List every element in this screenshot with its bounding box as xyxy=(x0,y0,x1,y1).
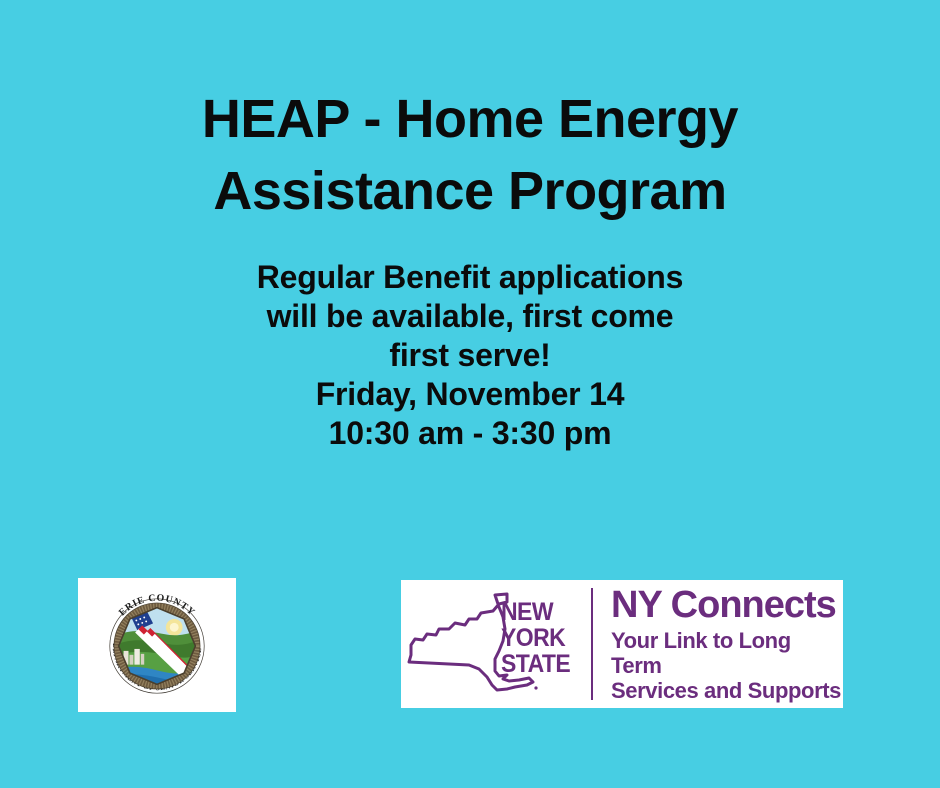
event-date: Friday, November 14 xyxy=(0,375,940,414)
body-line-3: first serve! xyxy=(0,336,940,375)
nys-line-3: STATE xyxy=(501,651,570,677)
ny-connects-wordmark: NY Connects Your Link to Long Term Servi… xyxy=(593,585,843,703)
logo-strip: ERIE COUNTY DEPARTMENT OF SENIOR SERVICE… xyxy=(0,578,940,714)
ny-state-lockup: NEW YORK STATE xyxy=(401,585,591,703)
heap-flyer: HEAP - Home Energy Assistance Program Re… xyxy=(0,0,940,788)
nys-line-2: YORK xyxy=(501,625,570,651)
new-york-state-wordmark: NEW YORK STATE xyxy=(501,599,570,677)
ny-connects-tagline: Your Link to Long Term Services and Supp… xyxy=(611,628,843,703)
ny-connects-logo-card: NEW YORK STATE NY Connects Your Link to … xyxy=(401,580,843,708)
tagline-line-1: Your Link to Long Term xyxy=(611,628,843,678)
event-details: Regular Benefit applications will be ava… xyxy=(0,258,940,453)
ny-connects-title: NY Connects xyxy=(611,585,843,625)
headline-line-2: Assistance Program xyxy=(0,155,940,227)
body-line-2: will be available, first come xyxy=(0,297,940,336)
event-time: 10:30 am - 3:30 pm xyxy=(0,414,940,453)
erie-county-seal-icon: ERIE COUNTY DEPARTMENT OF SENIOR SERVICE… xyxy=(98,586,216,704)
page-title: HEAP - Home Energy Assistance Program xyxy=(0,83,940,227)
nys-line-1: NEW xyxy=(501,599,570,625)
body-line-1: Regular Benefit applications xyxy=(0,258,940,297)
erie-county-logo-card: ERIE COUNTY DEPARTMENT OF SENIOR SERVICE… xyxy=(78,578,236,712)
headline-line-1: HEAP - Home Energy xyxy=(0,83,940,155)
tagline-line-2: Services and Supports xyxy=(611,678,843,703)
